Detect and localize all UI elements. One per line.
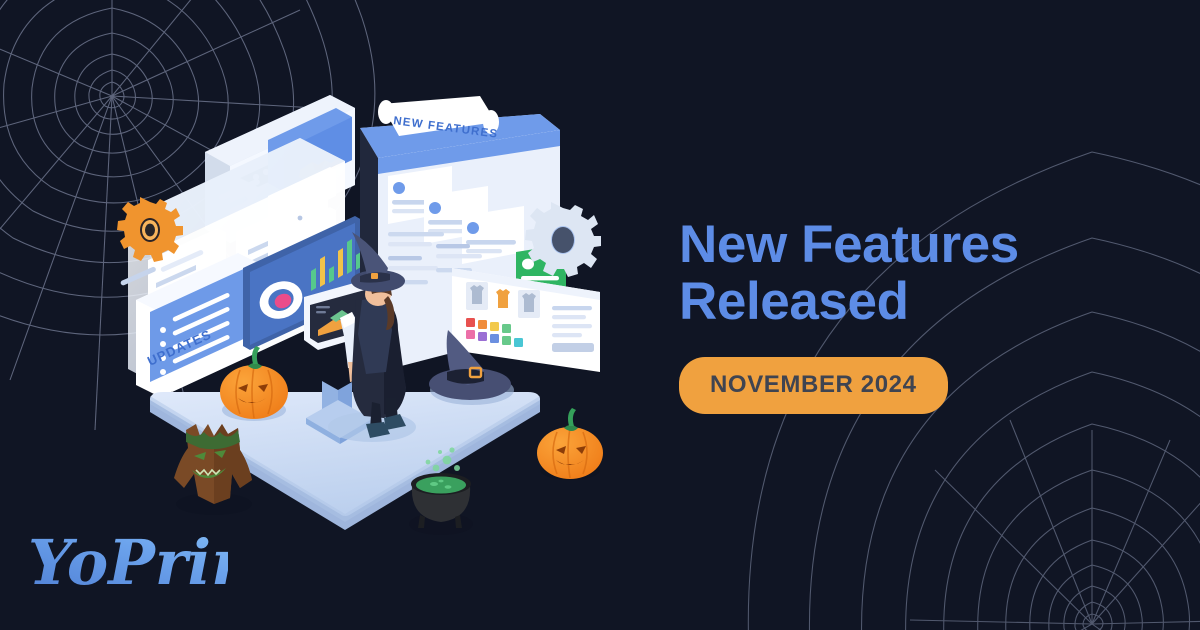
- yoprint-logo[interactable]: YoPrint: [28, 520, 228, 615]
- date-badge[interactable]: NOVEMBER 2024: [679, 357, 948, 414]
- page-title: New Features Released: [679, 216, 1149, 330]
- yoprint-logo-text: YoPrint: [28, 526, 228, 599]
- promo-banner: UPDATES: [0, 0, 1200, 630]
- copy-block: New Features Released NOVEMBER 2024: [679, 216, 1149, 414]
- jack-o-lantern-right: [537, 408, 603, 480]
- product-grid-panel: [452, 268, 600, 372]
